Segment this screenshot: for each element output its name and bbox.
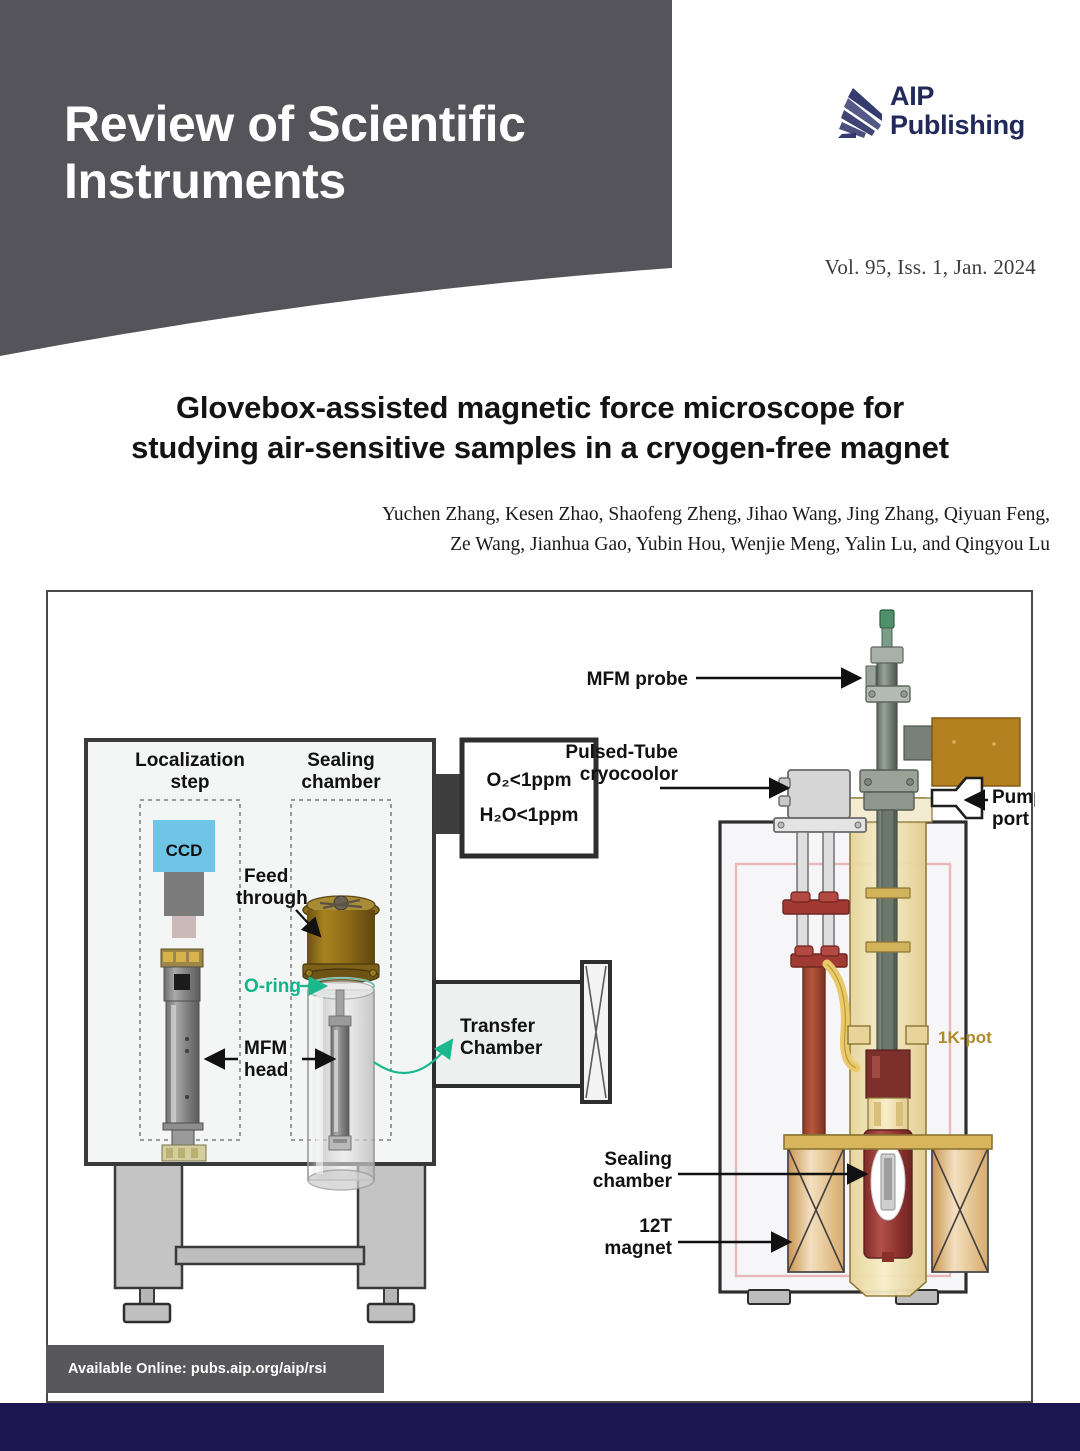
pump-port-label-2: port <box>992 809 1030 830</box>
one-k-pot-label: 1K-pot <box>938 1028 992 1047</box>
volume-issue-date: Vol. 95, Iss. 1, Jan. 2024 <box>825 255 1036 280</box>
pulsed-tube-label-1: Pulsed-Tube <box>565 742 678 763</box>
author-list: Yuchen Zhang, Kesen Zhao, Shaofeng Zheng… <box>150 500 1050 560</box>
cryostat-assembly <box>720 610 1020 1304</box>
ccd-label: CCD <box>166 841 203 860</box>
mfm-head-label-1: MFM <box>244 1038 287 1059</box>
journal-title-line-2: Instruments <box>64 153 664 210</box>
sealing-chamber-label-2: chamber <box>301 772 381 793</box>
author-line-2: Ze Wang, Jianhua Gao, Yubin Hou, Wenjie … <box>150 530 1050 560</box>
localization-step-label-2: step <box>170 772 209 793</box>
aip-publishing-logo: AIP Publishing <box>836 82 1048 150</box>
available-online-text: Available Online: pubs.aip.org/aip/rsi <box>46 1361 327 1377</box>
paper-title-line-1: Glovebox-assisted magnetic force microsc… <box>40 388 1040 428</box>
mfm-head-label-2: head <box>244 1060 288 1081</box>
mfm-probe-label: MFM probe <box>587 669 688 690</box>
sealing-chamber-right-label-1: Sealing <box>604 1149 672 1170</box>
magnet-label-2: magnet <box>604 1238 672 1259</box>
feed-through-label-1: Feed <box>244 866 288 887</box>
purity-h2o-label: H₂O<1ppm <box>480 805 579 826</box>
transfer-chamber-label-1: Transfer <box>460 1016 536 1037</box>
mfm-head-left <box>161 949 206 1161</box>
feed-through-assembly <box>303 896 379 983</box>
magnet-label-1: 12T <box>639 1216 672 1237</box>
pump-port-label-1: Pump <box>992 787 1035 808</box>
aip-fan-mark-icon <box>836 88 882 138</box>
journal-title-line-1: Review of Scientific <box>64 96 664 153</box>
o-ring-label: O-ring <box>244 976 301 997</box>
page-title: Glovebox-assisted magnetic force microsc… <box>40 388 1040 469</box>
author-line-1: Yuchen Zhang, Kesen Zhao, Shaofeng Zheng… <box>150 500 1050 530</box>
journal-title: Review of Scientific Instruments <box>64 96 664 210</box>
aip-wordmark-line-2: Publishing <box>890 111 1025 140</box>
cover-figure: CCD <box>46 590 1033 1403</box>
purity-o2-label: O₂<1ppm <box>487 770 572 791</box>
sealing-chamber-right-label-2: chamber <box>593 1171 673 1192</box>
feed-through-label-2: through <box>236 888 308 909</box>
aip-wordmark-line-1: AIP <box>890 82 1025 111</box>
aip-wordmark: AIP Publishing <box>890 82 1025 140</box>
paper-title-line-2: studying air-sensitive samples in a cryo… <box>40 428 1040 468</box>
localization-step-label-1: Localization <box>135 750 245 771</box>
sealing-chamber-label-1: Sealing <box>307 750 375 771</box>
transfer-chamber-label-2: Chamber <box>460 1038 543 1059</box>
sealing-chamber-glass <box>308 981 374 1190</box>
available-online-bar: Available Online: pubs.aip.org/aip/rsi <box>46 1345 384 1393</box>
bottom-accent-bar <box>0 1403 1080 1451</box>
pulsed-tube-label-2: cryocoolor <box>580 764 679 785</box>
cover-figure-svg: CCD <box>48 592 1035 1405</box>
